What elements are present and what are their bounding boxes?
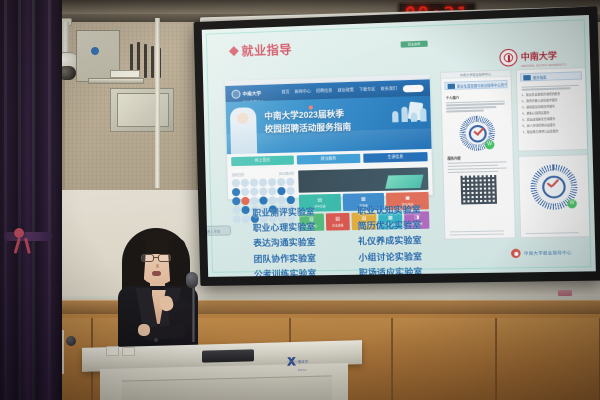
service-item: 4、求职心理调适服务 (522, 110, 582, 116)
qr-caption-block (525, 232, 585, 235)
website-button-3[interactable]: 生源信息 (363, 152, 427, 163)
calendar-day[interactable] (232, 179, 240, 187)
curtain-tie-knot (14, 228, 24, 238)
website-hero-banner: 中南大学2023届秋季 校园招聘活动服务指南 (226, 96, 432, 155)
nose (156, 264, 159, 268)
nav-item[interactable]: 新闻中心 (295, 88, 311, 95)
article-title-right: 服务指南 (533, 74, 547, 80)
website-search-input[interactable] (402, 84, 423, 92)
hand-left (138, 324, 150, 336)
tile-glyph: ▦ (361, 197, 366, 202)
text-line (449, 233, 504, 236)
calendar-day[interactable] (259, 178, 267, 186)
article-header-left: 中南大学就业指导中心 (441, 71, 511, 79)
calendar-day[interactable] (250, 188, 258, 196)
glasses-bridge-icon (154, 257, 158, 258)
nav-item[interactable]: 下载专区 (359, 86, 376, 93)
text-line (448, 164, 498, 167)
mouth-speaking (152, 271, 161, 276)
diamond-bullet-icon (229, 46, 239, 56)
article-intro-lines (521, 84, 581, 91)
calendar-day[interactable] (259, 197, 267, 205)
wechat-icon: W (485, 140, 495, 150)
lecture-hall-photo: 09:21 (0, 0, 600, 400)
qr-ring-icon (542, 175, 566, 198)
blazer-button (154, 338, 158, 342)
wainscot-panel (392, 318, 496, 400)
camera-arm (62, 22, 69, 56)
calendar-label: 活动日历 (232, 172, 245, 177)
lab-item: 团队协作实验室 (238, 251, 333, 265)
calendar-day[interactable] (278, 187, 286, 195)
calendar-day[interactable] (232, 188, 240, 196)
article-title-bar-left: 职业生涯发展与就业指导中心简介及服务 (444, 80, 507, 90)
podium-brand-sub: 智慧讲台 (298, 368, 308, 372)
nav-item[interactable]: 首页 (281, 89, 289, 95)
article-title-bar-right: 服务指南 (520, 71, 582, 81)
hero-figure (420, 108, 427, 121)
calendar-header: 活动日历 2023年9月 (232, 171, 295, 178)
tile-glyph: ▤ (317, 198, 322, 203)
service-item: 3、模拟面试训练指导服务 (522, 104, 582, 110)
article-body-lines (446, 100, 507, 113)
calendar-day[interactable] (241, 179, 249, 187)
lab-name-columns: 职业测评实验室 职业心理实验室 表达沟通实验室 团队协作实验室 公考训练实验室 … (236, 203, 439, 277)
lab-column-left: 职业测评实验室 职业心理实验室 表达沟通实验室 团队协作实验室 公考训练实验室 (236, 205, 332, 277)
text-line (446, 106, 496, 109)
text-line (525, 232, 579, 235)
text-line (448, 167, 507, 170)
hero-illustration-person (230, 107, 257, 154)
glasses-right-lens-icon (158, 254, 171, 262)
lab-item: 职业心理实验室 (237, 221, 332, 235)
calendar-day[interactable] (241, 188, 249, 196)
qr-ring-icon (468, 124, 486, 142)
calendar-day[interactable] (268, 178, 276, 186)
curtain-fold (4, 0, 7, 400)
window-curtain (0, 0, 62, 400)
checkmark-icon (472, 130, 485, 138)
service-item: 6、用人单位招聘对接服务 (522, 122, 582, 128)
slide-tag-badge: 就业指导 (401, 41, 428, 48)
hero-illustration-group (392, 106, 427, 122)
curtain-tieback (4, 232, 52, 241)
hero-figure (401, 107, 408, 122)
nav-item[interactable]: 招聘信息 (316, 88, 333, 95)
wechat-qr-burst-icon-large[interactable]: W (530, 164, 578, 211)
footer-logo-icon (511, 249, 521, 258)
hero-title: 中南大学2023届秋季 校园招聘活动服务指南 (264, 107, 351, 136)
microphone-stand (192, 280, 195, 342)
article-panel-right-stack: 服务指南 1、职业生涯规划咨询预约服务 2、简历诊断与优化指导服务 3、模拟面试… (516, 67, 591, 238)
text-line (446, 110, 484, 113)
slide-title-text: 就业指导 (241, 40, 292, 59)
curtain-fold (48, 0, 51, 400)
qr-code-image[interactable] (460, 175, 497, 205)
hero-title-line2: 校园招聘活动服务指南 (264, 121, 351, 137)
wechat-icon: W (567, 199, 577, 209)
presentation-slide: 就业指导 就业指导 中南大学 CENTRAL SOUTH UNIVERSITY (202, 15, 596, 277)
calendar-day[interactable] (259, 187, 267, 195)
calendar-day[interactable] (287, 187, 295, 195)
hero-figure (411, 112, 417, 121)
podium-knob[interactable] (66, 336, 76, 346)
title-accent-icon (448, 83, 455, 88)
text-line (448, 170, 498, 173)
checkmark-icon (546, 181, 559, 189)
slide-tag-label: 就业指导 (401, 41, 428, 48)
calendar-day[interactable] (287, 196, 295, 204)
lab-item: 小组讨论实验室 (342, 250, 439, 264)
calendar-day[interactable] (278, 196, 286, 204)
nav-item[interactable]: 联系我们 (381, 86, 398, 93)
nav-item[interactable]: 就业政策 (337, 87, 354, 94)
article-section-2: 服务内容 (447, 154, 508, 161)
slide-footer-logo: 中南大学就业指导中心 (511, 248, 572, 258)
lab-item: 表达沟通实验室 (237, 236, 332, 250)
podium-control-device[interactable] (202, 349, 254, 362)
slide-title: 就业指导 (230, 40, 292, 59)
projection-screen: 就业指导 就业指导 中南大学 CENTRAL SOUTH UNIVERSITY (194, 6, 600, 286)
wechat-qr-burst-icon[interactable]: W (459, 115, 496, 151)
glasses-left-lens-icon (141, 254, 154, 262)
university-seal-icon (499, 49, 517, 67)
curtain-fold (32, 0, 35, 400)
calendar-day[interactable] (277, 178, 285, 186)
calendar-day[interactable] (250, 179, 258, 187)
title-accent-icon (523, 75, 531, 80)
university-name-block: 中南大学 CENTRAL SOUTH UNIVERSITY (520, 45, 566, 68)
article-title-left: 职业生涯发展与就业指导中心简介及服务 (457, 81, 507, 88)
microphone-head-icon (186, 272, 198, 288)
podium-recessed-panel (122, 375, 332, 400)
text-line (521, 88, 570, 91)
lab-item: 职业认知实验室 (341, 203, 438, 217)
antenna-rod (151, 46, 154, 78)
footer-logo-text: 中南大学就业指导中心 (524, 249, 572, 256)
website-menu: 首页 新闻中心 招聘信息 就业政策 下载专区 联系我们 (281, 86, 397, 96)
website-button-1[interactable]: 网上签约 (231, 155, 294, 166)
website-logo-text: 中南大学 (242, 90, 261, 96)
hero-figure (392, 111, 399, 122)
cabinet-door (117, 93, 169, 127)
website-seal-icon (231, 89, 240, 98)
electrical-cabinet (110, 88, 174, 132)
service-item: 7、职业能力测评与反馈服务 (523, 128, 583, 134)
lab-column-right: 职业认知实验室 简历优化实验室 礼仪养成实验室 小组讨论实验室 职场适应实验室 (341, 203, 439, 277)
text-line (449, 230, 504, 233)
text-line (446, 103, 505, 106)
podium-brand-url: www.xinglifang.com (287, 361, 304, 363)
calendar-day[interactable] (269, 196, 277, 204)
lab-item: 礼仪养成实验室 (342, 234, 439, 248)
podium-small-item[interactable] (122, 347, 135, 356)
calendar-day[interactable] (268, 187, 276, 195)
panel-indicator-dot (91, 47, 99, 55)
article-body-lines-2 (448, 161, 509, 173)
wainscot-panel (496, 318, 600, 400)
text-line (448, 161, 507, 164)
calendar-month: 2023年9月 (279, 171, 295, 176)
lab-item: 职业测评实验室 (236, 205, 331, 219)
equipment-shelf (88, 78, 144, 84)
lectern-podium: 星立方 智慧讲台 www.xinglifang.com (82, 344, 362, 400)
calendar-day-today[interactable] (241, 197, 249, 205)
antenna-rod (144, 44, 147, 78)
podium-small-item[interactable] (106, 346, 119, 356)
article-panel-left: 中南大学就业指导中心 职业生涯发展与就业指导中心简介及服务 个人简介 (440, 69, 516, 239)
article-footer-lines (449, 230, 510, 235)
tile-glyph: ▣ (405, 196, 410, 201)
calendar-day[interactable] (232, 197, 240, 205)
wall-conduit (155, 18, 160, 188)
website-screenshot: 中南大学 就业指导中心 首页 新闻中心 招聘信息 就业政策 下载专区 联系我们 (225, 74, 433, 199)
calendar-day[interactable] (287, 178, 295, 186)
article-panel-right-bottom: W (518, 154, 591, 238)
chalkboard-eraser (558, 290, 572, 296)
service-item: 1、职业生涯规划咨询预约服务 (522, 91, 582, 97)
curtain-fold (18, 0, 21, 400)
featured-banner-tile[interactable] (298, 167, 428, 192)
article-panel-right-top: 服务指南 1、职业生涯规划咨询预约服务 2、简历诊断与优化指导服务 3、模拟面试… (516, 67, 589, 152)
presenter (104, 222, 214, 362)
university-logo: 中南大学 CENTRAL SOUTH UNIVERSITY (499, 45, 566, 69)
calendar-day[interactable] (250, 197, 258, 205)
article-panels: 中南大学就业指导中心 职业生涯发展与就业指导中心简介及服务 个人简介 (440, 67, 591, 240)
university-name-cn: 中南大学 (521, 50, 557, 62)
screen-canvas: 就业指导 就业指导 中南大学 CENTRAL SOUTH UNIVERSITY (202, 15, 596, 277)
text-line (521, 84, 579, 87)
website-button-2[interactable]: 就业服务 (297, 154, 361, 165)
service-item: 5、就业政策解读咨询服务 (522, 116, 582, 122)
lab-item: 简历优化实验室 (341, 219, 438, 233)
signal-jammer-unit (110, 70, 140, 78)
service-item: 2、简历诊断与优化指导服务 (522, 97, 582, 103)
